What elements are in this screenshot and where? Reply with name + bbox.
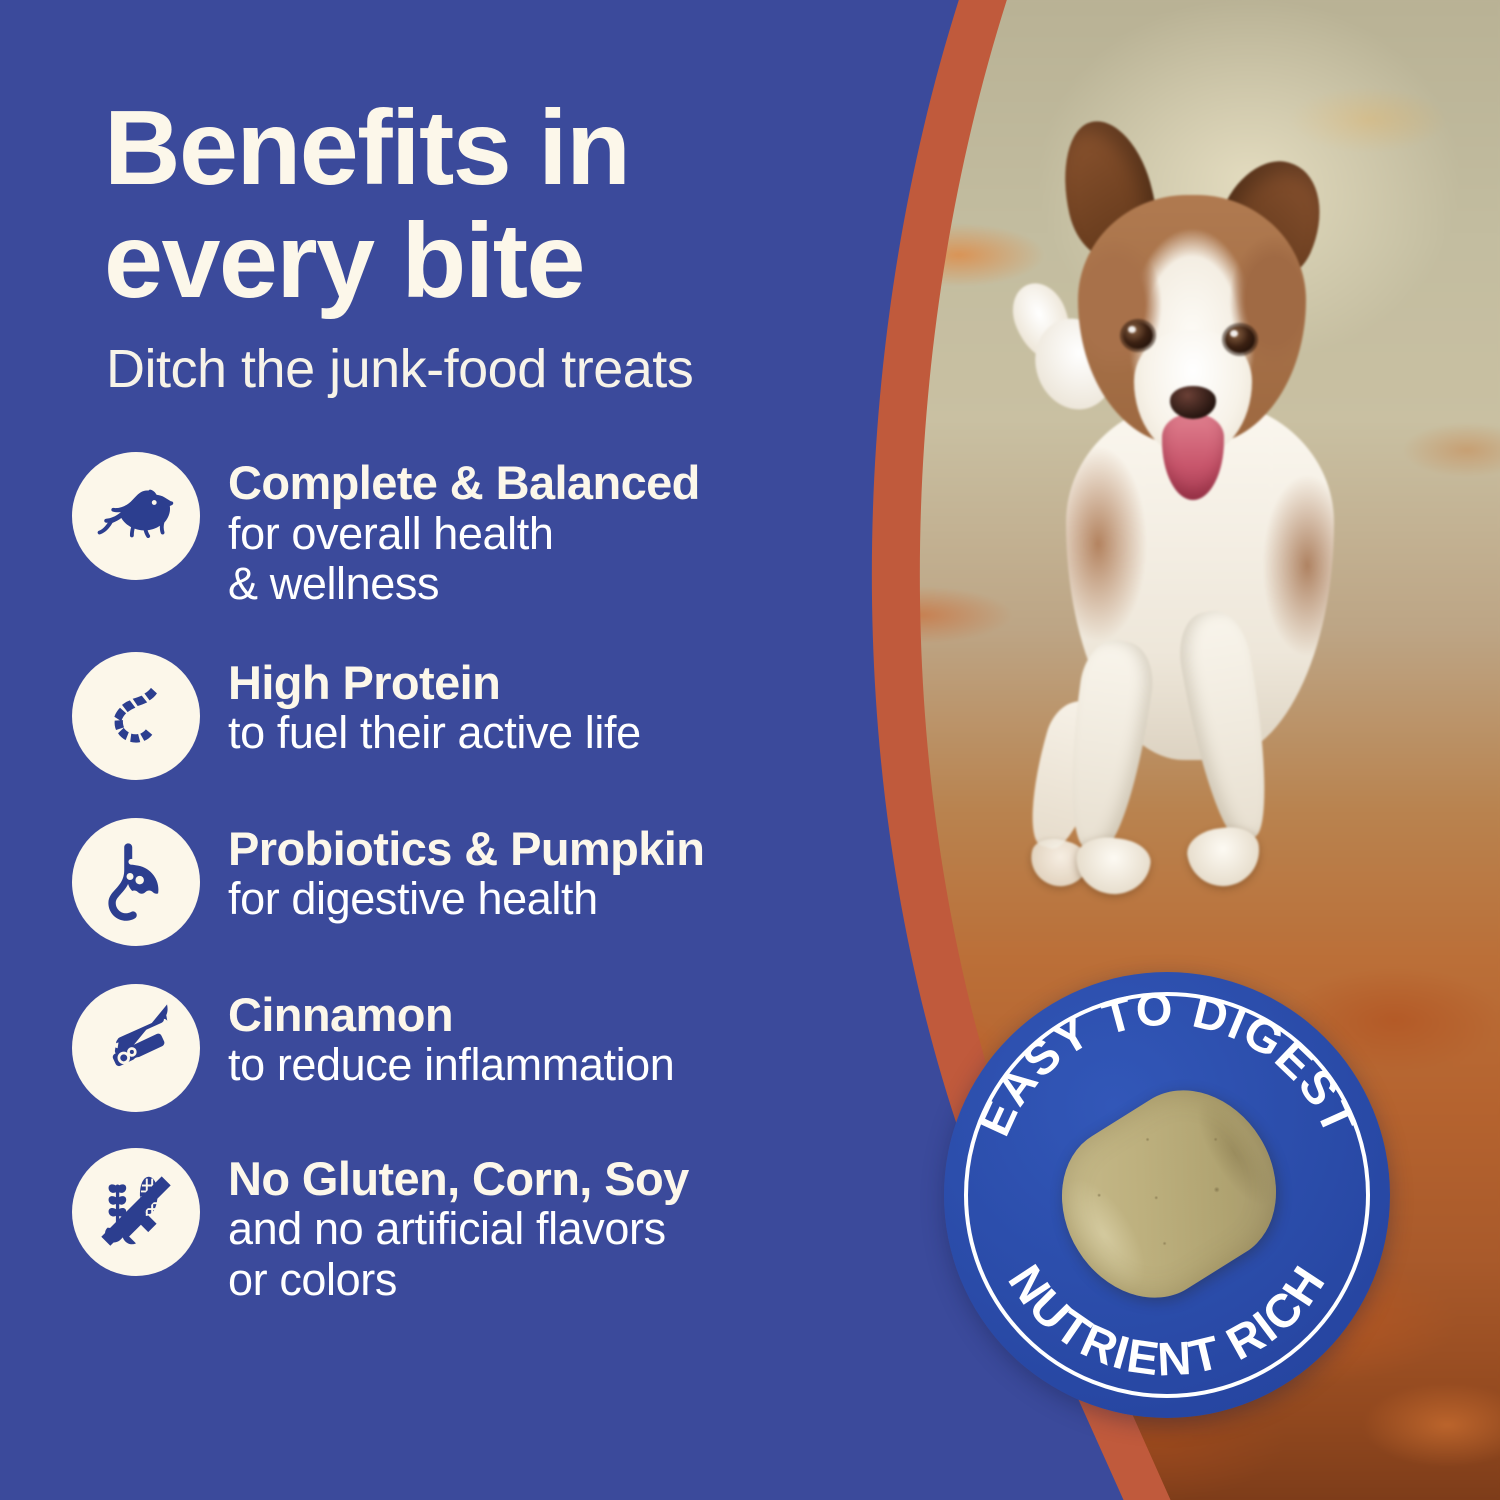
- benefit-title: Probiotics & Pumpkin: [228, 824, 704, 875]
- product-benefits-infographic: Benefits in every bite Ditch the junk-fo…: [0, 0, 1500, 1500]
- benefit-text: Cinnamon to reduce inflammation: [228, 984, 674, 1091]
- benefit-text: No Gluten, Corn, Soy and no artificial f…: [228, 1148, 689, 1306]
- dog-paw-left: [1073, 834, 1152, 897]
- benefits-list: Complete & Balanced for overall health& …: [72, 452, 892, 1335]
- dog-eye-left: [1123, 322, 1153, 349]
- no-gluten-corn-soy-icon: [72, 1148, 200, 1276]
- benefit-item: Complete & Balanced for overall health& …: [72, 452, 892, 610]
- benefit-title: Complete & Balanced: [228, 458, 700, 509]
- dog-eye-right: [1225, 326, 1255, 353]
- page-title: Benefits in every bite: [104, 92, 864, 319]
- benefit-subtitle: to reduce inflammation: [228, 1040, 674, 1090]
- dog-eye-highlight-left: [1128, 326, 1136, 333]
- badge-bottom-text: NUTRIENT RICH: [998, 1255, 1335, 1385]
- badge-top-text: EASY TO DIGEST: [966, 981, 1367, 1143]
- easy-to-digest-badge: EASY TO DIGEST NUTRIENT RICH: [944, 972, 1390, 1418]
- benefit-item: Probiotics & Pumpkin for digestive healt…: [72, 818, 892, 946]
- benefit-subtitle: to fuel their active life: [228, 708, 641, 758]
- dog-eye-highlight-right: [1230, 330, 1238, 337]
- benefit-item: No Gluten, Corn, Soy and no artificial f…: [72, 1148, 892, 1306]
- benefit-subtitle: for digestive health: [228, 874, 704, 924]
- stomach-probiotics-icon: [72, 818, 200, 946]
- page-subtitle: Ditch the junk-food treats: [106, 338, 886, 400]
- benefit-title: No Gluten, Corn, Soy: [228, 1154, 689, 1205]
- benefit-text: Probiotics & Pumpkin for digestive healt…: [228, 818, 704, 925]
- benefit-item: High Protein to fuel their active life: [72, 652, 892, 780]
- benefit-title: Cinnamon: [228, 990, 674, 1041]
- benefit-title: High Protein: [228, 658, 641, 709]
- benefit-text: Complete & Balanced for overall health& …: [228, 452, 700, 610]
- benefit-subtitle: and no artificial flavorsor colors: [228, 1204, 689, 1305]
- badge-text: EASY TO DIGEST NUTRIENT RICH: [944, 972, 1390, 1418]
- protein-helix-icon: [72, 652, 200, 780]
- benefit-item: Cinnamon to reduce inflammation: [72, 984, 892, 1112]
- jumping-dog-icon: [72, 452, 200, 580]
- cinnamon-sticks-icon: [72, 984, 200, 1112]
- dog-paw-right: [1184, 823, 1263, 890]
- benefit-text: High Protein to fuel their active life: [228, 652, 641, 759]
- benefit-subtitle: for overall health& wellness: [228, 509, 700, 610]
